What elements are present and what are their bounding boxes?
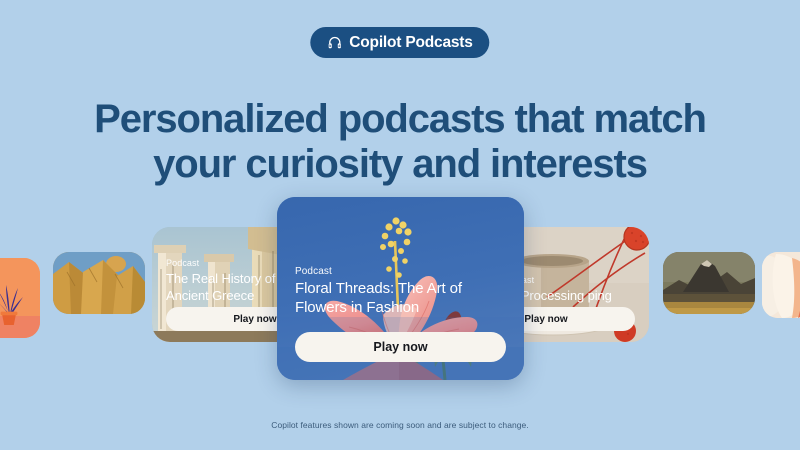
headline-line-1: Personalized podcasts that match (60, 97, 740, 142)
card-kicker: Podcast (295, 266, 506, 277)
carousel-card-hero[interactable]: Podcast Floral Threads: The Art of Flowe… (277, 197, 524, 380)
carousel-card-desert[interactable] (53, 252, 145, 314)
volcano-landscape-photo (663, 252, 755, 314)
potted-plant-illustration-icon (0, 258, 40, 338)
cream-pink-tulip-photo (762, 252, 800, 318)
card-text-hero: Podcast Floral Threads: The Art of Flowe… (295, 266, 506, 318)
page-headline: Personalized podcasts that match your cu… (0, 97, 800, 187)
disclaimer-text: Copilot features shown are coming soon a… (0, 420, 800, 430)
copilot-podcasts-badge: Copilot Podcasts (310, 27, 489, 58)
headphones-icon (327, 35, 342, 50)
badge-label: Copilot Podcasts (349, 35, 472, 51)
carousel-card-mountain[interactable] (663, 252, 755, 314)
carousel-card-tulip[interactable] (762, 252, 800, 318)
play-now-button-hero[interactable]: Play now (295, 332, 506, 362)
desert-rocks-photo (53, 252, 145, 314)
headline-line-2: your curiosity and interests (60, 142, 740, 187)
card-title: Floral Threads: The Art of Flowers in Fa… (295, 280, 506, 318)
podcast-carousel: Podcast The Real History of Ancient Gree… (0, 190, 800, 390)
carousel-card-plant[interactable] (0, 258, 40, 338)
